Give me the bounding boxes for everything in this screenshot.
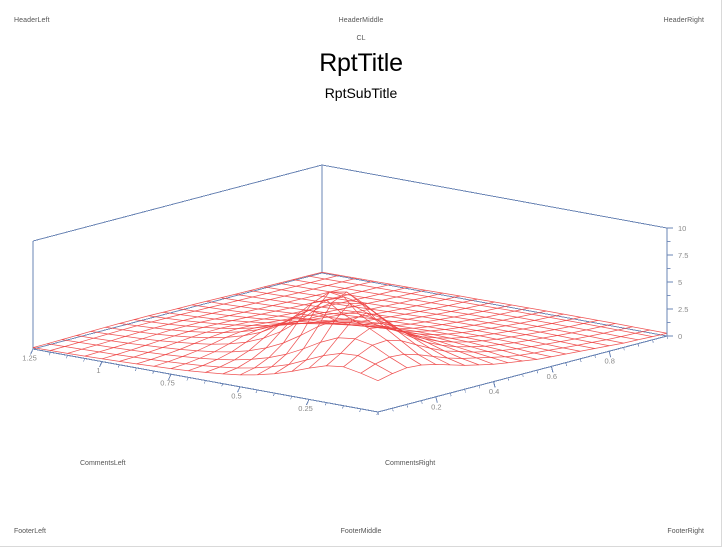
wireframe-mesh [33, 272, 667, 381]
header-band: HeaderLeft HeaderMiddle HeaderRight [0, 17, 722, 27]
report-page: HeaderLeft HeaderMiddle HeaderRight CL R… [0, 0, 722, 556]
svg-text:0.5: 0.5 [231, 391, 241, 400]
footer-middle-text: FooterMiddle [0, 528, 722, 535]
svg-text:7.5: 7.5 [678, 251, 688, 260]
report-subtitle: RptSubTitle [0, 85, 722, 102]
svg-text:0.75: 0.75 [160, 379, 175, 388]
report-title: RptTitle [0, 49, 722, 77]
header-middle-text: HeaderMiddle [0, 17, 722, 24]
svg-text:0.8: 0.8 [604, 357, 614, 366]
svg-text:1: 1 [96, 366, 100, 375]
surface-plot-canvas: 1.2510.750.50.250.20.40.60.802.557.510 [0, 115, 722, 435]
surface-plot: 1.2510.750.50.250.20.40.60.802.557.510 [0, 115, 722, 435]
svg-text:10: 10 [678, 224, 686, 233]
page-frame-bottom-edge [0, 546, 722, 547]
comments-band: CommentsLeft CommentsRight [0, 460, 722, 470]
comments-left-text: CommentsLeft [80, 460, 126, 467]
footer-right-text: FooterRight [667, 528, 704, 535]
svg-text:2.5: 2.5 [678, 305, 688, 314]
svg-text:0.6: 0.6 [547, 372, 557, 381]
svg-text:0.25: 0.25 [298, 404, 313, 413]
comments-right-text: CommentsRight [385, 460, 435, 467]
header-right-text: HeaderRight [664, 17, 704, 24]
classification-marking: CL [0, 35, 722, 42]
svg-text:0.2: 0.2 [431, 402, 441, 411]
svg-text:0: 0 [678, 332, 682, 341]
svg-text:5: 5 [678, 278, 682, 287]
svg-text:1.25: 1.25 [22, 354, 37, 363]
footer-band: FooterLeft FooterMiddle FooterRight [0, 528, 722, 538]
svg-text:0.4: 0.4 [489, 387, 499, 396]
